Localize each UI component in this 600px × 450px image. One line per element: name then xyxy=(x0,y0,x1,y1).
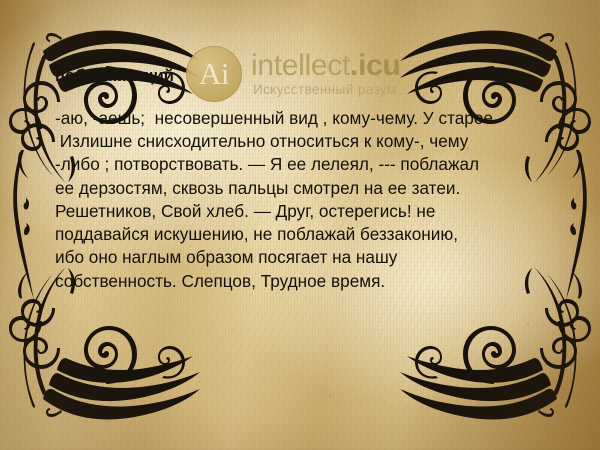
entry-content: поблажающий -аю, -аешь; несовершенный ви… xyxy=(55,66,551,293)
edge-flourish-icon-right xyxy=(560,150,594,300)
dictionary-entry-card: Ai intellect.icu Искусственный разум поб… xyxy=(0,0,600,450)
entry-definition: -аю, -аешь; несовершенный вид , кому-чем… xyxy=(55,107,551,293)
edge-flourish-icon-left xyxy=(6,150,40,300)
entry-headword: поблажающий xyxy=(55,66,551,87)
